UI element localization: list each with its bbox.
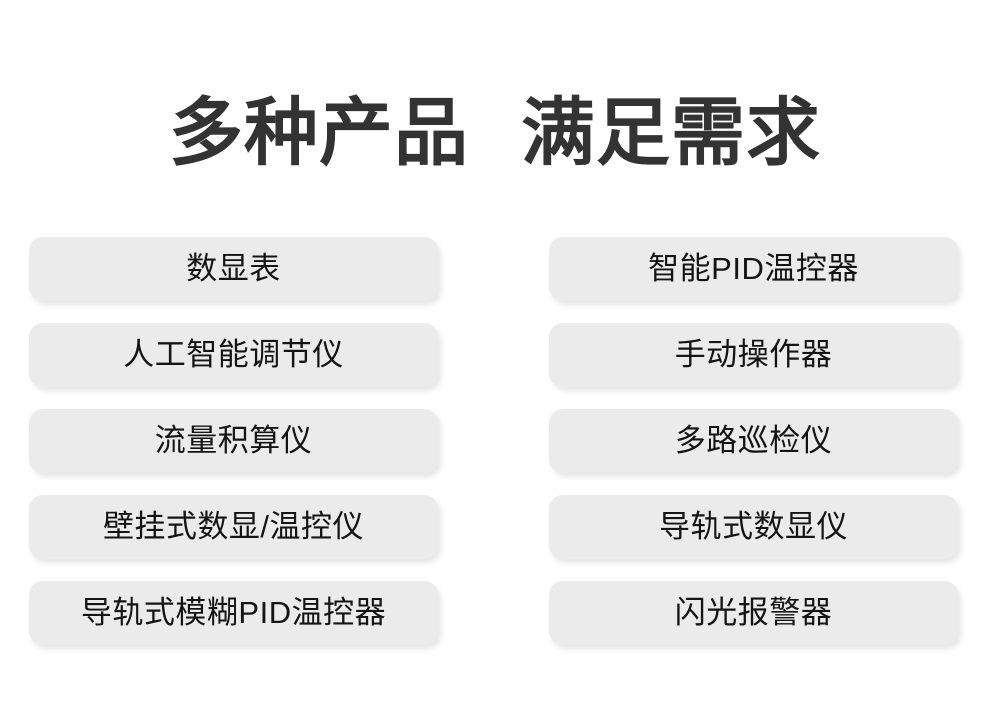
product-card[interactable]: 导轨式数显仪	[549, 495, 958, 559]
page-title: 多种产品满足需求	[0, 92, 990, 174]
product-card[interactable]: 多路巡检仪	[549, 409, 958, 473]
product-card-label: 导轨式模糊PID温控器	[81, 596, 386, 630]
product-card[interactable]: 数显表	[29, 237, 438, 301]
product-card-grid: 数显表 人工智能调节仪 流量积算仪 壁挂式数显/温控仪 导轨式模糊PID温控器 …	[29, 237, 958, 645]
product-category-banner: 多种产品满足需求 数显表 人工智能调节仪 流量积算仪 壁挂式数显/温控仪 导轨式…	[0, 0, 990, 706]
product-card[interactable]: 流量积算仪	[29, 409, 438, 473]
product-card-label: 闪光报警器	[675, 596, 833, 630]
product-card[interactable]: 壁挂式数显/温控仪	[29, 495, 438, 559]
product-card-label: 导轨式数显仪	[659, 510, 848, 544]
product-card[interactable]: 闪光报警器	[549, 581, 958, 645]
page-title-phrase-2: 满足需求	[521, 92, 821, 174]
product-card[interactable]: 手动操作器	[549, 323, 958, 387]
page-title-phrase-1: 多种产品	[169, 92, 469, 174]
product-card-label: 人工智能调节仪	[123, 338, 344, 372]
product-card[interactable]: 导轨式模糊PID温控器	[29, 581, 438, 645]
product-card-label: 多路巡检仪	[675, 424, 833, 458]
product-column-right: 智能PID温控器 手动操作器 多路巡检仪 导轨式数显仪 闪光报警器	[549, 237, 958, 645]
product-card-label: 壁挂式数显/温控仪	[103, 510, 364, 544]
product-card[interactable]: 智能PID温控器	[549, 237, 958, 301]
product-column-left: 数显表 人工智能调节仪 流量积算仪 壁挂式数显/温控仪 导轨式模糊PID温控器	[29, 237, 438, 645]
product-card-label: 流量积算仪	[155, 424, 313, 458]
product-card-label: 数显表	[186, 252, 281, 286]
product-card-label: 手动操作器	[675, 338, 833, 372]
product-card[interactable]: 人工智能调节仪	[29, 323, 438, 387]
product-card-label: 智能PID温控器	[648, 252, 859, 286]
